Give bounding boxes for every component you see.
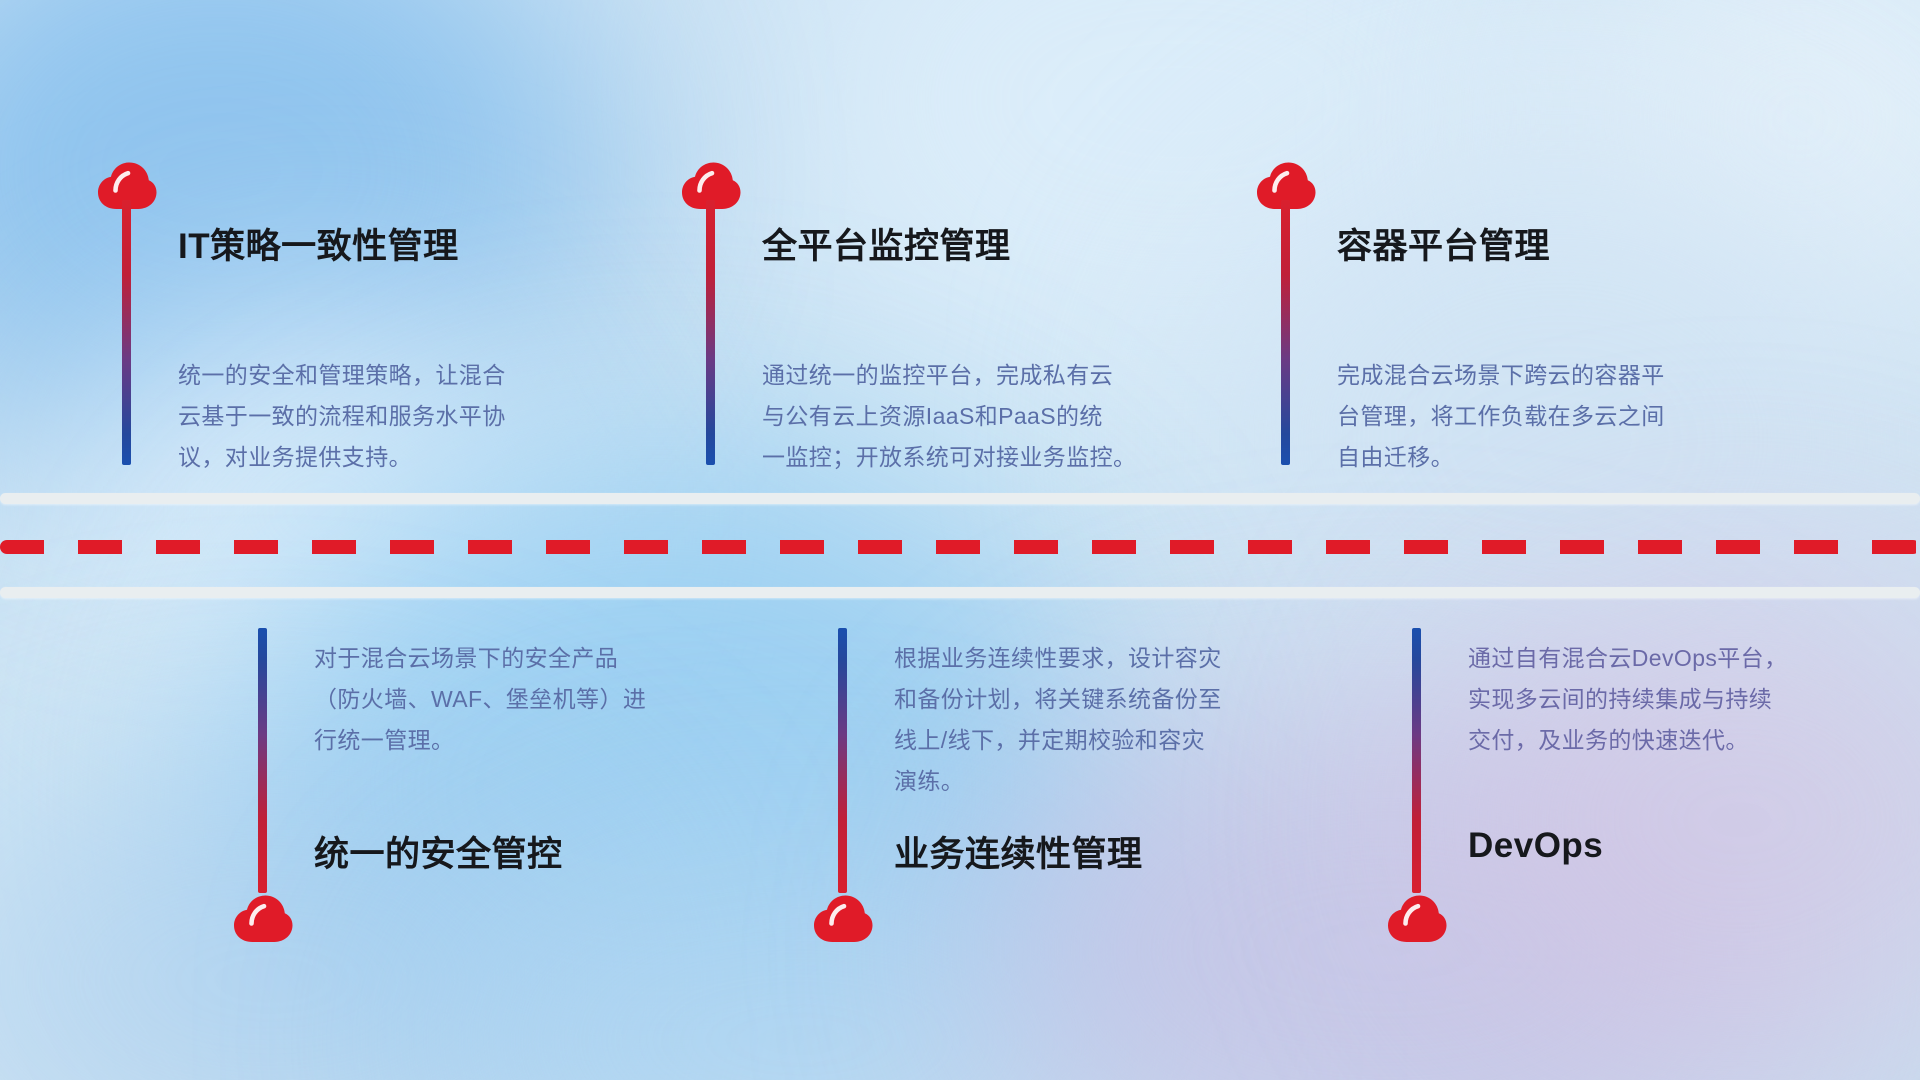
feature-description: 通过统一的监控平台，完成私有云 与公有云上资源IaaS和PaaS的统 一监控；开… [762,355,1192,478]
feature-description: 完成混合云场景下跨云的容器平 台管理，将工作负载在多云之间 自由迁移。 [1337,355,1767,478]
feature-heading: IT策略一致性管理 [178,218,459,269]
description-line: 云基于一致的流程和服务水平协 [178,396,598,437]
feature-heading: 业务连续性管理 [894,826,1143,877]
feature-heading: 容器平台管理 [1337,218,1550,269]
timeline-stem [122,200,131,465]
description-line: 一监控；开放系统可对接业务监控。 [762,437,1192,478]
description-line: 议，对业务提供支持。 [178,437,598,478]
description-line: 完成混合云场景下跨云的容器平 [1337,355,1767,396]
description-line: 通过统一的监控平台，完成私有云 [762,355,1192,396]
description-line: 行统一管理。 [314,720,734,761]
cloud-icon [1386,893,1448,943]
timeline-stem [838,628,847,893]
description-line: 演练。 [894,761,1324,802]
feature-description: 统一的安全和管理策略，让混合 云基于一致的流程和服务水平协 议，对业务提供支持。 [178,355,598,478]
feature-heading: 统一的安全管控 [314,826,563,877]
feature-description: 根据业务连续性要求，设计容灾 和备份计划，将关键系统备份至 线上/线下，并定期校… [894,638,1324,802]
description-line: 通过自有混合云DevOps平台， [1468,638,1888,679]
description-line: 统一的安全和管理策略，让混合 [178,355,598,396]
description-line: 交付，及业务的快速迭代。 [1468,720,1888,761]
description-line: 自由迁移。 [1337,437,1767,478]
timeline-stem [1412,628,1421,893]
feature-description: 对于混合云场景下的安全产品 （防火墙、WAF、堡垒机等）进 行统一管理。 [314,638,734,761]
description-line: 实现多云间的持续集成与持续 [1468,679,1888,720]
feature-description: 通过自有混合云DevOps平台， 实现多云间的持续集成与持续 交付，及业务的快速… [1468,638,1888,761]
solid-rule-bottom [0,587,1920,598]
red-dashed-rule [0,540,1920,554]
description-line: 线上/线下，并定期校验和容灾 [894,720,1324,761]
timeline-stem [258,628,267,893]
description-line: 对于混合云场景下的安全产品 [314,638,734,679]
timeline-stem [706,200,715,465]
feature-heading: 全平台监控管理 [762,218,1011,269]
description-line: 与公有云上资源IaaS和PaaS的统 [762,396,1192,437]
cloud-icon [232,893,294,943]
description-line: 根据业务连续性要求，设计容灾 [894,638,1324,679]
cloud-icon [812,893,874,943]
description-line: （防火墙、WAF、堡垒机等）进 [314,679,734,720]
feature-heading: DevOps [1468,826,1603,866]
solid-rule-top [0,493,1920,504]
timeline-stem [1281,200,1290,465]
description-line: 和备份计划，将关键系统备份至 [894,679,1324,720]
description-line: 台管理，将工作负载在多云之间 [1337,396,1767,437]
